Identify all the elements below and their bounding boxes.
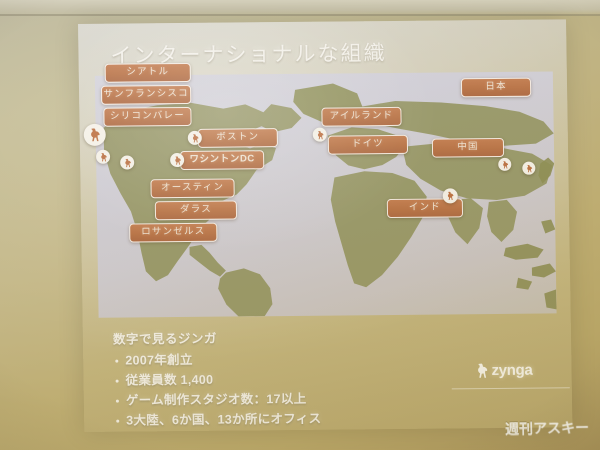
pin-china — [498, 158, 511, 171]
stats-list: 2007年創立従業員数 1,400ゲーム制作スタジオ数：17以上3大陸、6か国、… — [113, 348, 444, 431]
zynga-logo: zynga — [475, 362, 532, 380]
photograph-of-projected-slide: インターナショナルな組織 — [0, 0, 600, 450]
wall-ceiling-seam-line — [0, 14, 600, 16]
logo-underline — [452, 387, 570, 389]
city-label: ドイツ — [328, 135, 408, 155]
presentation-slide: インターナショナルな組織 — [78, 19, 572, 432]
pin-boston — [188, 131, 202, 145]
dog-icon — [173, 156, 182, 165]
office-pin-layer — [78, 19, 566, 24]
zynga-wordmark: zynga — [491, 362, 532, 379]
dog-icon — [99, 152, 108, 161]
city-label-layer: シアトルサンフランシスコシリコンバレーボストンワシントンDCオースティンダラスロ… — [78, 19, 566, 24]
stats-block: 数字で見るジンガ 2007年創立従業員数 1,400ゲーム制作スタジオ数：17以… — [113, 327, 445, 431]
city-label: アイルランド — [321, 107, 401, 127]
dog-icon — [446, 191, 455, 200]
city-label: ダラス — [155, 200, 237, 220]
dog-icon — [123, 158, 132, 167]
city-label: ボストン — [198, 128, 278, 148]
dog-icon — [88, 128, 102, 142]
pin-japan — [522, 162, 535, 175]
city-label: シリコンバレー — [103, 107, 191, 127]
watermark-prefix: 週刊 — [505, 420, 533, 436]
dog-icon — [525, 164, 533, 172]
dog-icon — [190, 133, 199, 142]
city-label: 中国 — [432, 138, 504, 158]
stats-heading: 数字で見るジンガ — [113, 327, 443, 350]
stats-list-item: 3大陸、6か国、13か所にオフィス — [114, 407, 444, 430]
pin-los-angeles — [96, 150, 110, 164]
magazine-watermark: 週刊アスキー — [505, 417, 589, 438]
pin-dallas — [120, 155, 134, 169]
dog-icon — [315, 130, 324, 139]
pin-ireland — [313, 128, 327, 142]
pin-india — [443, 188, 458, 203]
city-label: ワシントンDC — [180, 150, 264, 170]
city-label: ロサンゼルス — [129, 223, 217, 243]
city-label: オースティン — [150, 179, 234, 199]
dog-icon — [501, 160, 509, 168]
city-label: シアトル — [105, 63, 191, 83]
pin-washington-dc — [170, 153, 184, 167]
watermark-ghost: アスキー — [533, 419, 589, 436]
city-label: サンフランシスコ — [101, 85, 191, 105]
pin-silicon-valley — [84, 124, 106, 146]
city-label: 日本 — [461, 78, 531, 98]
zynga-dog-icon — [475, 363, 488, 378]
